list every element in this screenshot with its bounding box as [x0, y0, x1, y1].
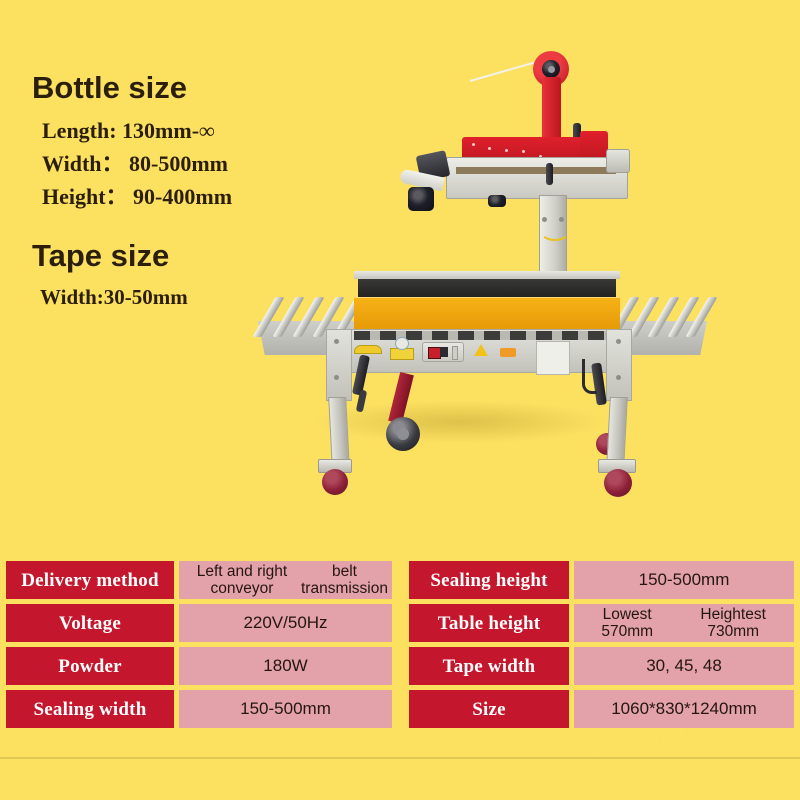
row-value: 150-500mm	[574, 561, 794, 599]
round-decal-icon	[395, 337, 409, 350]
row-label: Size	[409, 690, 569, 728]
table-row: Sealing width 150-500mm	[6, 690, 392, 728]
table-row: Table height Lowest 570mm Heightest 730m…	[409, 604, 794, 642]
head-bracket-right	[606, 149, 630, 173]
table-row: Powder 180W	[6, 647, 392, 685]
row-label: Sealing height	[409, 561, 569, 599]
end-cap-bolt	[616, 339, 621, 344]
pressure-roller	[408, 187, 434, 211]
bottle-height-line: Height： 90-400mm	[42, 180, 362, 213]
tape-holder-arm	[542, 77, 561, 143]
table-row: Sealing height 150-500mm	[409, 561, 794, 599]
head-shaft	[546, 163, 553, 185]
spec-text-block: Bottle size Length: 130mm-∞ Width： 80-50…	[32, 72, 362, 314]
end-cap-bolt	[334, 375, 339, 380]
bottle-size-title: Bottle size	[32, 72, 362, 105]
table-row: Voltage 220V/50Hz	[6, 604, 392, 642]
head-bottom-roller	[488, 195, 506, 207]
product-spec-banner: Bottle size Length: 130mm-∞ Width： 80-50…	[0, 0, 800, 800]
spec-plate-sticker	[536, 341, 570, 375]
bottle-width-line: Width： 80-500mm	[42, 147, 362, 180]
row-label: Table height	[409, 604, 569, 642]
tape-size-lines: Width:30-50mm	[32, 282, 362, 314]
head-rivet	[522, 150, 525, 153]
row-value: 220V/50Hz	[179, 604, 392, 642]
row-value-line: Heightest 730mm	[676, 606, 790, 641]
row-label: Delivery method	[6, 561, 174, 599]
row-value-line: Lowest 570mm	[578, 606, 676, 641]
spec-table-left: Delivery method Left and right conveyor …	[6, 561, 392, 728]
caster-wheel-right	[604, 469, 632, 497]
column-bolt	[559, 217, 564, 222]
row-value: Lowest 570mm Heightest 730mm	[574, 604, 794, 642]
footer-divider	[0, 757, 800, 759]
head-rivet	[505, 149, 508, 152]
sealing-head-housing	[446, 157, 628, 199]
head-rivet	[472, 143, 475, 146]
spec-table-right: Sealing height 150-500mm Table height Lo…	[409, 561, 794, 728]
row-label: Tape width	[409, 647, 569, 685]
drive-pulley-hub	[397, 428, 409, 440]
warning-triangle-icon	[474, 344, 488, 356]
end-cap-bolt	[334, 339, 339, 344]
column-bolt	[542, 217, 547, 222]
row-label: Powder	[6, 647, 174, 685]
leg-right	[606, 397, 628, 467]
row-value: Left and right conveyor belt transmissio…	[179, 561, 392, 599]
tape-hub-bolt	[548, 66, 555, 73]
bottle-size-lines: Length: 130mm-∞ Width： 80-500mm Height： …	[32, 114, 362, 214]
frame-slot-strip	[354, 331, 620, 340]
column-arc-decal	[540, 221, 570, 241]
arc-decal-sticker	[354, 345, 382, 354]
row-value-line: Left and right conveyor	[183, 563, 301, 598]
row-value: 30, 45, 48	[574, 647, 794, 685]
head-housing-slot	[456, 167, 616, 174]
belt-top-rail	[354, 271, 620, 279]
belt-side-guard	[354, 297, 620, 330]
row-label: Sealing width	[6, 690, 174, 728]
row-value-line: belt transmission	[301, 563, 388, 598]
row-value: 180W	[179, 647, 392, 685]
row-value: 150-500mm	[179, 690, 392, 728]
table-row: Delivery method Left and right conveyor …	[6, 561, 392, 599]
table-row: Tape width 30, 45, 48	[409, 647, 794, 685]
orange-sticker	[500, 348, 516, 357]
caster-wheel-left	[322, 469, 348, 495]
floor-shadow	[310, 400, 610, 444]
row-label: Voltage	[6, 604, 174, 642]
leg-left	[328, 397, 350, 467]
frame-end-cap-left	[326, 329, 352, 401]
cable-loop	[582, 359, 597, 394]
end-cap-bolt	[616, 375, 621, 380]
tape-size-title: Tape size	[32, 240, 362, 273]
bottle-length-line: Length: 130mm-∞	[42, 114, 362, 147]
stop-switch[interactable]	[440, 347, 448, 357]
panel-indicator	[452, 346, 458, 360]
tape-width-line: Width:30-50mm	[40, 282, 362, 314]
head-rivet	[488, 147, 491, 150]
